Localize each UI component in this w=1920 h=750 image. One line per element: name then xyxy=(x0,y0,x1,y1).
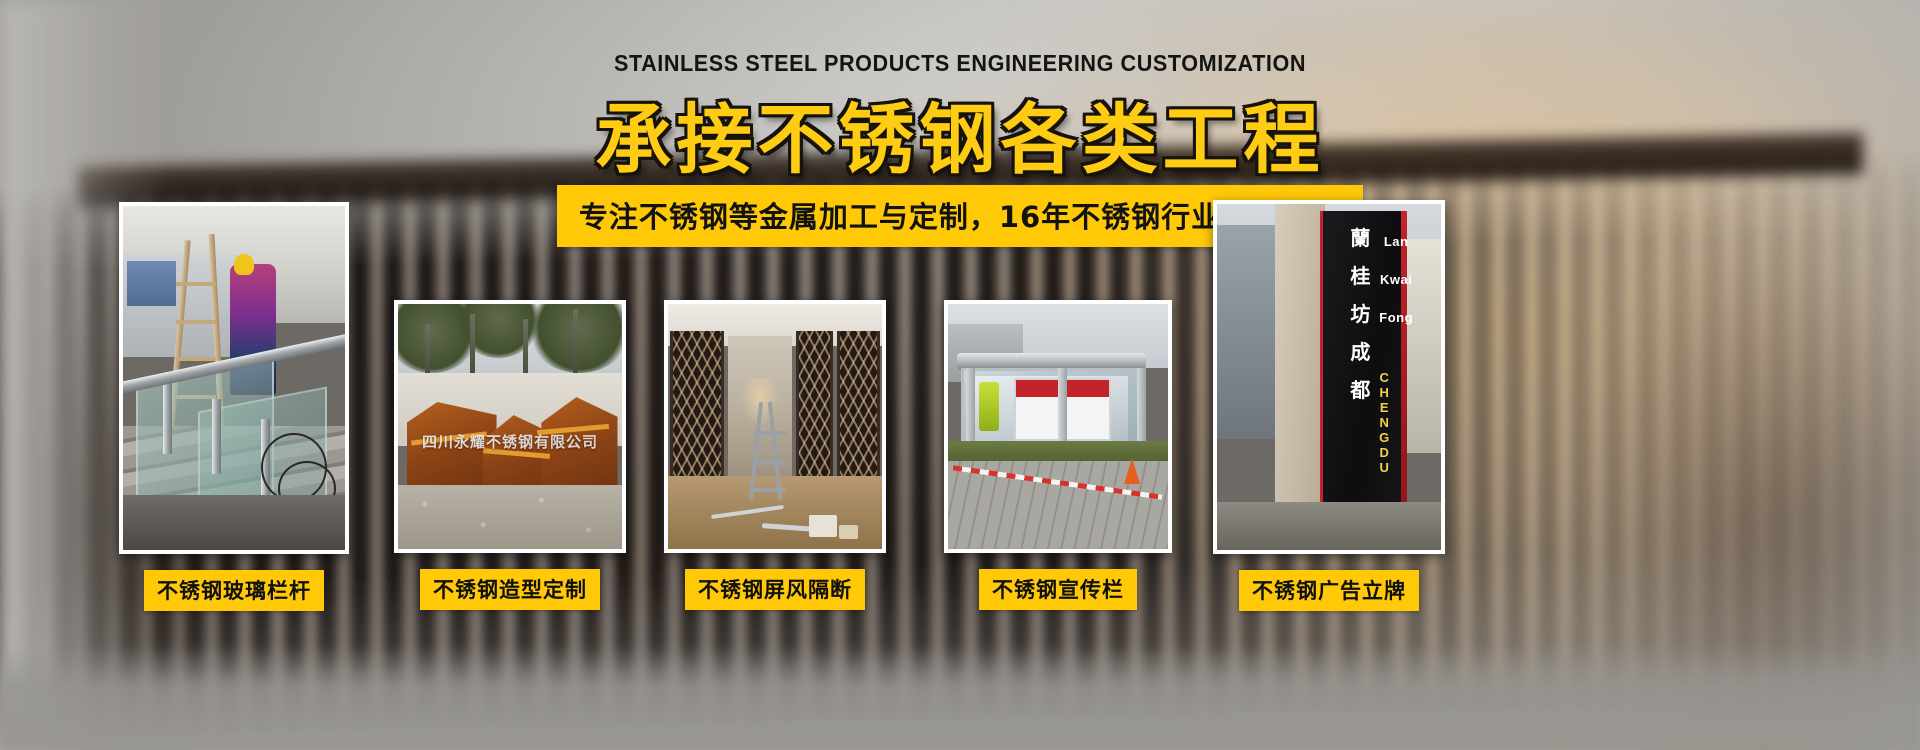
photo5-ground xyxy=(1217,502,1441,550)
gallery-caption: 不锈钢宣传栏 xyxy=(979,569,1137,610)
photo5-sign-en-1: Lan xyxy=(1378,235,1414,249)
photo5-sign-char-4: 成 xyxy=(1329,342,1392,363)
photo1-hard-hat xyxy=(234,254,254,275)
photo5-left-building xyxy=(1217,225,1280,440)
photo3-paint-can xyxy=(809,515,837,537)
photo1-signboard xyxy=(127,261,176,306)
gallery-strip: 不锈钢玻璃栏杆 xyxy=(0,0,1920,750)
photo5-stone-facade xyxy=(1275,204,1324,508)
photo1-ladder-rung xyxy=(176,282,216,286)
photo1-railing-post xyxy=(212,399,221,475)
gallery-caption: 不锈钢广告立牌 xyxy=(1239,570,1419,611)
photo2-watermark: 四川永耀不锈钢有限公司 xyxy=(398,431,622,452)
photo4-traffic-cone xyxy=(1124,458,1140,484)
photo4-worker-vest xyxy=(979,382,999,431)
gallery-photo-pylon-sign[interactable]: 蘭 桂 坊 成 都 Lan Kwai Fong CHENGDU xyxy=(1213,200,1445,554)
gallery-item[interactable]: 不锈钢宣传栏 xyxy=(944,300,1172,610)
promo-banner: STAINLESS STEEL PRODUCTS ENGINEERING CUS… xyxy=(0,0,1920,750)
gallery-photo-corten-sculpture[interactable]: 四川永耀不锈钢有限公司 xyxy=(394,300,626,553)
gallery-item[interactable]: 蘭 桂 坊 成 都 Lan Kwai Fong CHENGDU 不锈钢广告立牌 xyxy=(1213,200,1445,611)
gallery-caption: 不锈钢造型定制 xyxy=(420,569,600,610)
photo1-ladder-rung xyxy=(176,320,216,324)
gallery-photo-bulletin-board[interactable] xyxy=(944,300,1172,553)
gallery-caption: 不锈钢屏风隔断 xyxy=(685,569,865,610)
gallery-item[interactable]: 不锈钢玻璃栏杆 xyxy=(119,202,349,611)
photo5-sign-en-2: Kwai xyxy=(1378,273,1414,287)
photo1-ladder-rung xyxy=(176,357,216,361)
gallery-item[interactable]: 四川永耀不锈钢有限公司 不锈钢造型定制 xyxy=(394,300,626,610)
photo5-sign-en-3: Fong xyxy=(1378,311,1414,325)
photo3-box xyxy=(839,525,858,540)
photo5-sign-city: CHENGDU xyxy=(1360,370,1391,475)
photo2-gravel-ground xyxy=(398,485,622,549)
gallery-caption: 不锈钢玻璃栏杆 xyxy=(144,570,324,611)
photo1-railing-post xyxy=(163,378,172,454)
gallery-photo-screen-partition[interactable] xyxy=(664,300,886,553)
gallery-item[interactable]: 不锈钢屏风隔断 xyxy=(664,300,886,610)
photo5-right-building xyxy=(1403,239,1441,454)
gallery-photo-glass-railing[interactable] xyxy=(119,202,349,554)
photo1-ground xyxy=(123,495,345,550)
photo3-step-ladder xyxy=(754,402,786,500)
